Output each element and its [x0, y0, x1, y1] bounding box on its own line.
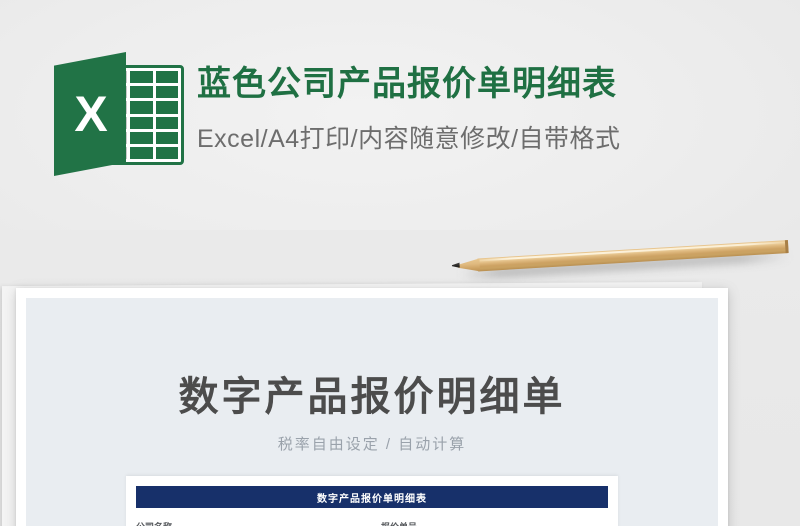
paper-inner-area: 数字产品报价明细单 税率自由设定 / 自动计算 数字产品报价单明细表 公司名称 … — [26, 298, 718, 526]
field-quote-number: 报价单号 — [363, 518, 608, 526]
grid-cell — [130, 147, 153, 159]
document-preview: 数字产品报价明细单 税率自由设定 / 自动计算 数字产品报价单明细表 公司名称 … — [0, 228, 800, 526]
grid-cell — [156, 147, 179, 159]
header-text-block: 蓝色公司产品报价单明细表 Excel/A4打印/内容随意修改/自带格式 — [197, 62, 787, 156]
grid-cell — [156, 132, 179, 144]
grid-cell — [130, 117, 153, 129]
screenshot-root: X 蓝色公司产品报价单明细表 Excel/A4打印/内容随意修改/自带格式 数字… — [0, 0, 800, 526]
grid-cell — [130, 71, 153, 83]
grid-cell — [156, 117, 179, 129]
grid-cell — [130, 101, 153, 113]
grid-cell — [156, 86, 179, 98]
quote-table-card: 数字产品报价单明细表 公司名称 报价单号 — [126, 476, 618, 526]
field-input-quote-number[interactable] — [429, 518, 598, 526]
grid-cell — [130, 132, 153, 144]
quote-table-header-label: 数字产品报价单明细表 — [317, 490, 427, 505]
document-title: 数字产品报价明细单 — [26, 372, 718, 422]
field-input-company-name[interactable] — [184, 518, 353, 526]
paper-sheet: 数字产品报价明细单 税率自由设定 / 自动计算 数字产品报价单明细表 公司名称 … — [16, 288, 728, 526]
field-label-quote-number: 报价单号 — [381, 518, 417, 526]
grid-cell — [130, 86, 153, 98]
grid-cell — [156, 101, 179, 113]
quote-field-row: 公司名称 报价单号 — [136, 518, 608, 526]
page-title: 蓝色公司产品报价单明细表 — [197, 62, 787, 106]
field-company-name: 公司名称 — [136, 518, 363, 526]
grid-cell — [156, 71, 179, 83]
pencil-tip-lead — [452, 263, 460, 269]
document-subtitle: 税率自由设定 / 自动计算 — [26, 434, 718, 456]
quote-table-header: 数字产品报价单明细表 — [136, 486, 608, 508]
excel-x-letter: X — [54, 52, 126, 176]
field-label-company-name: 公司名称 — [136, 518, 172, 526]
header-banner: X 蓝色公司产品报价单明细表 Excel/A4打印/内容随意修改/自带格式 — [0, 0, 800, 230]
excel-file-icon: X — [54, 52, 184, 176]
page-subtitle: Excel/A4打印/内容随意修改/自带格式 — [197, 122, 787, 156]
